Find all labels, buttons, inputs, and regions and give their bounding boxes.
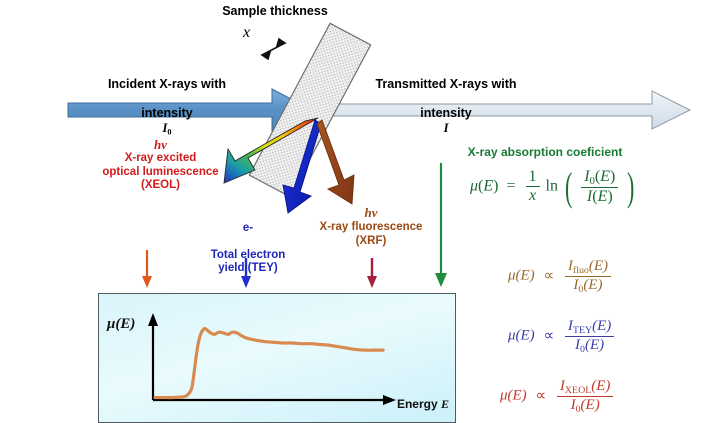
incident-label-line2: intensity bbox=[141, 106, 192, 120]
spectrum-plot bbox=[99, 294, 457, 423]
fraction-denominator: x bbox=[526, 186, 540, 205]
incident-intensity-subscript: 0 bbox=[167, 127, 171, 136]
sample-thickness-label: Sample thickness bbox=[200, 4, 350, 19]
proportionality-xeol: μ(E) ∝ IXEOL(E) I0(E) bbox=[500, 378, 615, 415]
equals-sign: = bbox=[502, 178, 519, 195]
xas-diagram: Sample thickness x Incident X-rays with … bbox=[0, 0, 720, 423]
fraction-numerator: 1 bbox=[526, 168, 540, 186]
chart-y-axis bbox=[148, 313, 158, 400]
intensity-ratio-fraction: I0(E) I(E) bbox=[581, 168, 618, 206]
ratio-denominator: I(E) bbox=[581, 187, 618, 206]
prop-fluo-operator: ∝ bbox=[543, 268, 554, 284]
prop-xeol-fraction: IXEOL(E) I0(E) bbox=[557, 378, 613, 415]
incident-beam-label: Incident X-rays with intensity I0 bbox=[62, 62, 272, 137]
left-paren: ( bbox=[565, 169, 572, 205]
xrf-label: X-ray fluorescence (XRF) bbox=[300, 221, 442, 248]
transmitted-label-line1: Transmitted X-rays with bbox=[375, 77, 516, 91]
xrf-photon-symbol: hv bbox=[300, 205, 442, 221]
transmitted-beam-label: Transmitted X-rays with intensity I bbox=[336, 62, 556, 136]
transmitted-label-line2: intensity bbox=[420, 106, 471, 120]
right-paren: ) bbox=[627, 169, 634, 205]
prop-xeol-operator: ∝ bbox=[535, 388, 546, 404]
absorption-spectrum-panel: μ(E) Energy E bbox=[98, 293, 456, 423]
mu-arg: E bbox=[483, 178, 493, 195]
xrf-down-arrow bbox=[367, 258, 377, 288]
one-over-x-fraction: 1 x bbox=[526, 168, 540, 205]
absorption-coefficient-title: X-ray absorption coeficient bbox=[420, 145, 670, 159]
prop-fluo-lhs: μ(E) bbox=[508, 268, 535, 284]
absorption-coefficient-equation: μ(E) = 1 x ln ( I0(E) I(E) ) bbox=[470, 168, 638, 206]
xeol-down-arrow bbox=[142, 250, 152, 288]
incident-label-line1: Incident X-rays with bbox=[108, 77, 226, 91]
mu-symbol: μ bbox=[470, 178, 478, 195]
proportionality-tey: μ(E) ∝ ITEY(E) I0(E) bbox=[508, 318, 616, 355]
chart-x-axis bbox=[153, 395, 396, 405]
prop-tey-operator: ∝ bbox=[543, 328, 554, 344]
prop-fluo-fraction: Ifluo(E) I0(E) bbox=[565, 258, 611, 295]
proportionality-fluo: μ(E) ∝ Ifluo(E) I0(E) bbox=[508, 258, 613, 295]
prop-tey-lhs: μ(E) bbox=[508, 328, 535, 344]
prop-tey-fraction: ITEY(E) I0(E) bbox=[565, 318, 614, 355]
ratio-numerator: I0(E) bbox=[581, 168, 618, 187]
spectrum-curve bbox=[155, 329, 383, 398]
prop-xeol-lhs: μ(E) bbox=[500, 388, 527, 404]
xeol-label: X-ray excited optical luminescence (XEOL… bbox=[78, 152, 243, 193]
transmitted-intensity-symbol: I bbox=[444, 121, 449, 135]
xeol-photon-symbol: hv bbox=[78, 137, 243, 153]
tey-particle-symbol: e- bbox=[243, 222, 253, 234]
ln-operator: ln bbox=[546, 178, 558, 195]
tey-label: e- Total electron yield (TEY) bbox=[188, 208, 308, 276]
thickness-symbol: x bbox=[243, 24, 250, 42]
thickness-arrow bbox=[262, 39, 285, 59]
tey-label-text: Total electron yield (TEY) bbox=[211, 249, 286, 275]
